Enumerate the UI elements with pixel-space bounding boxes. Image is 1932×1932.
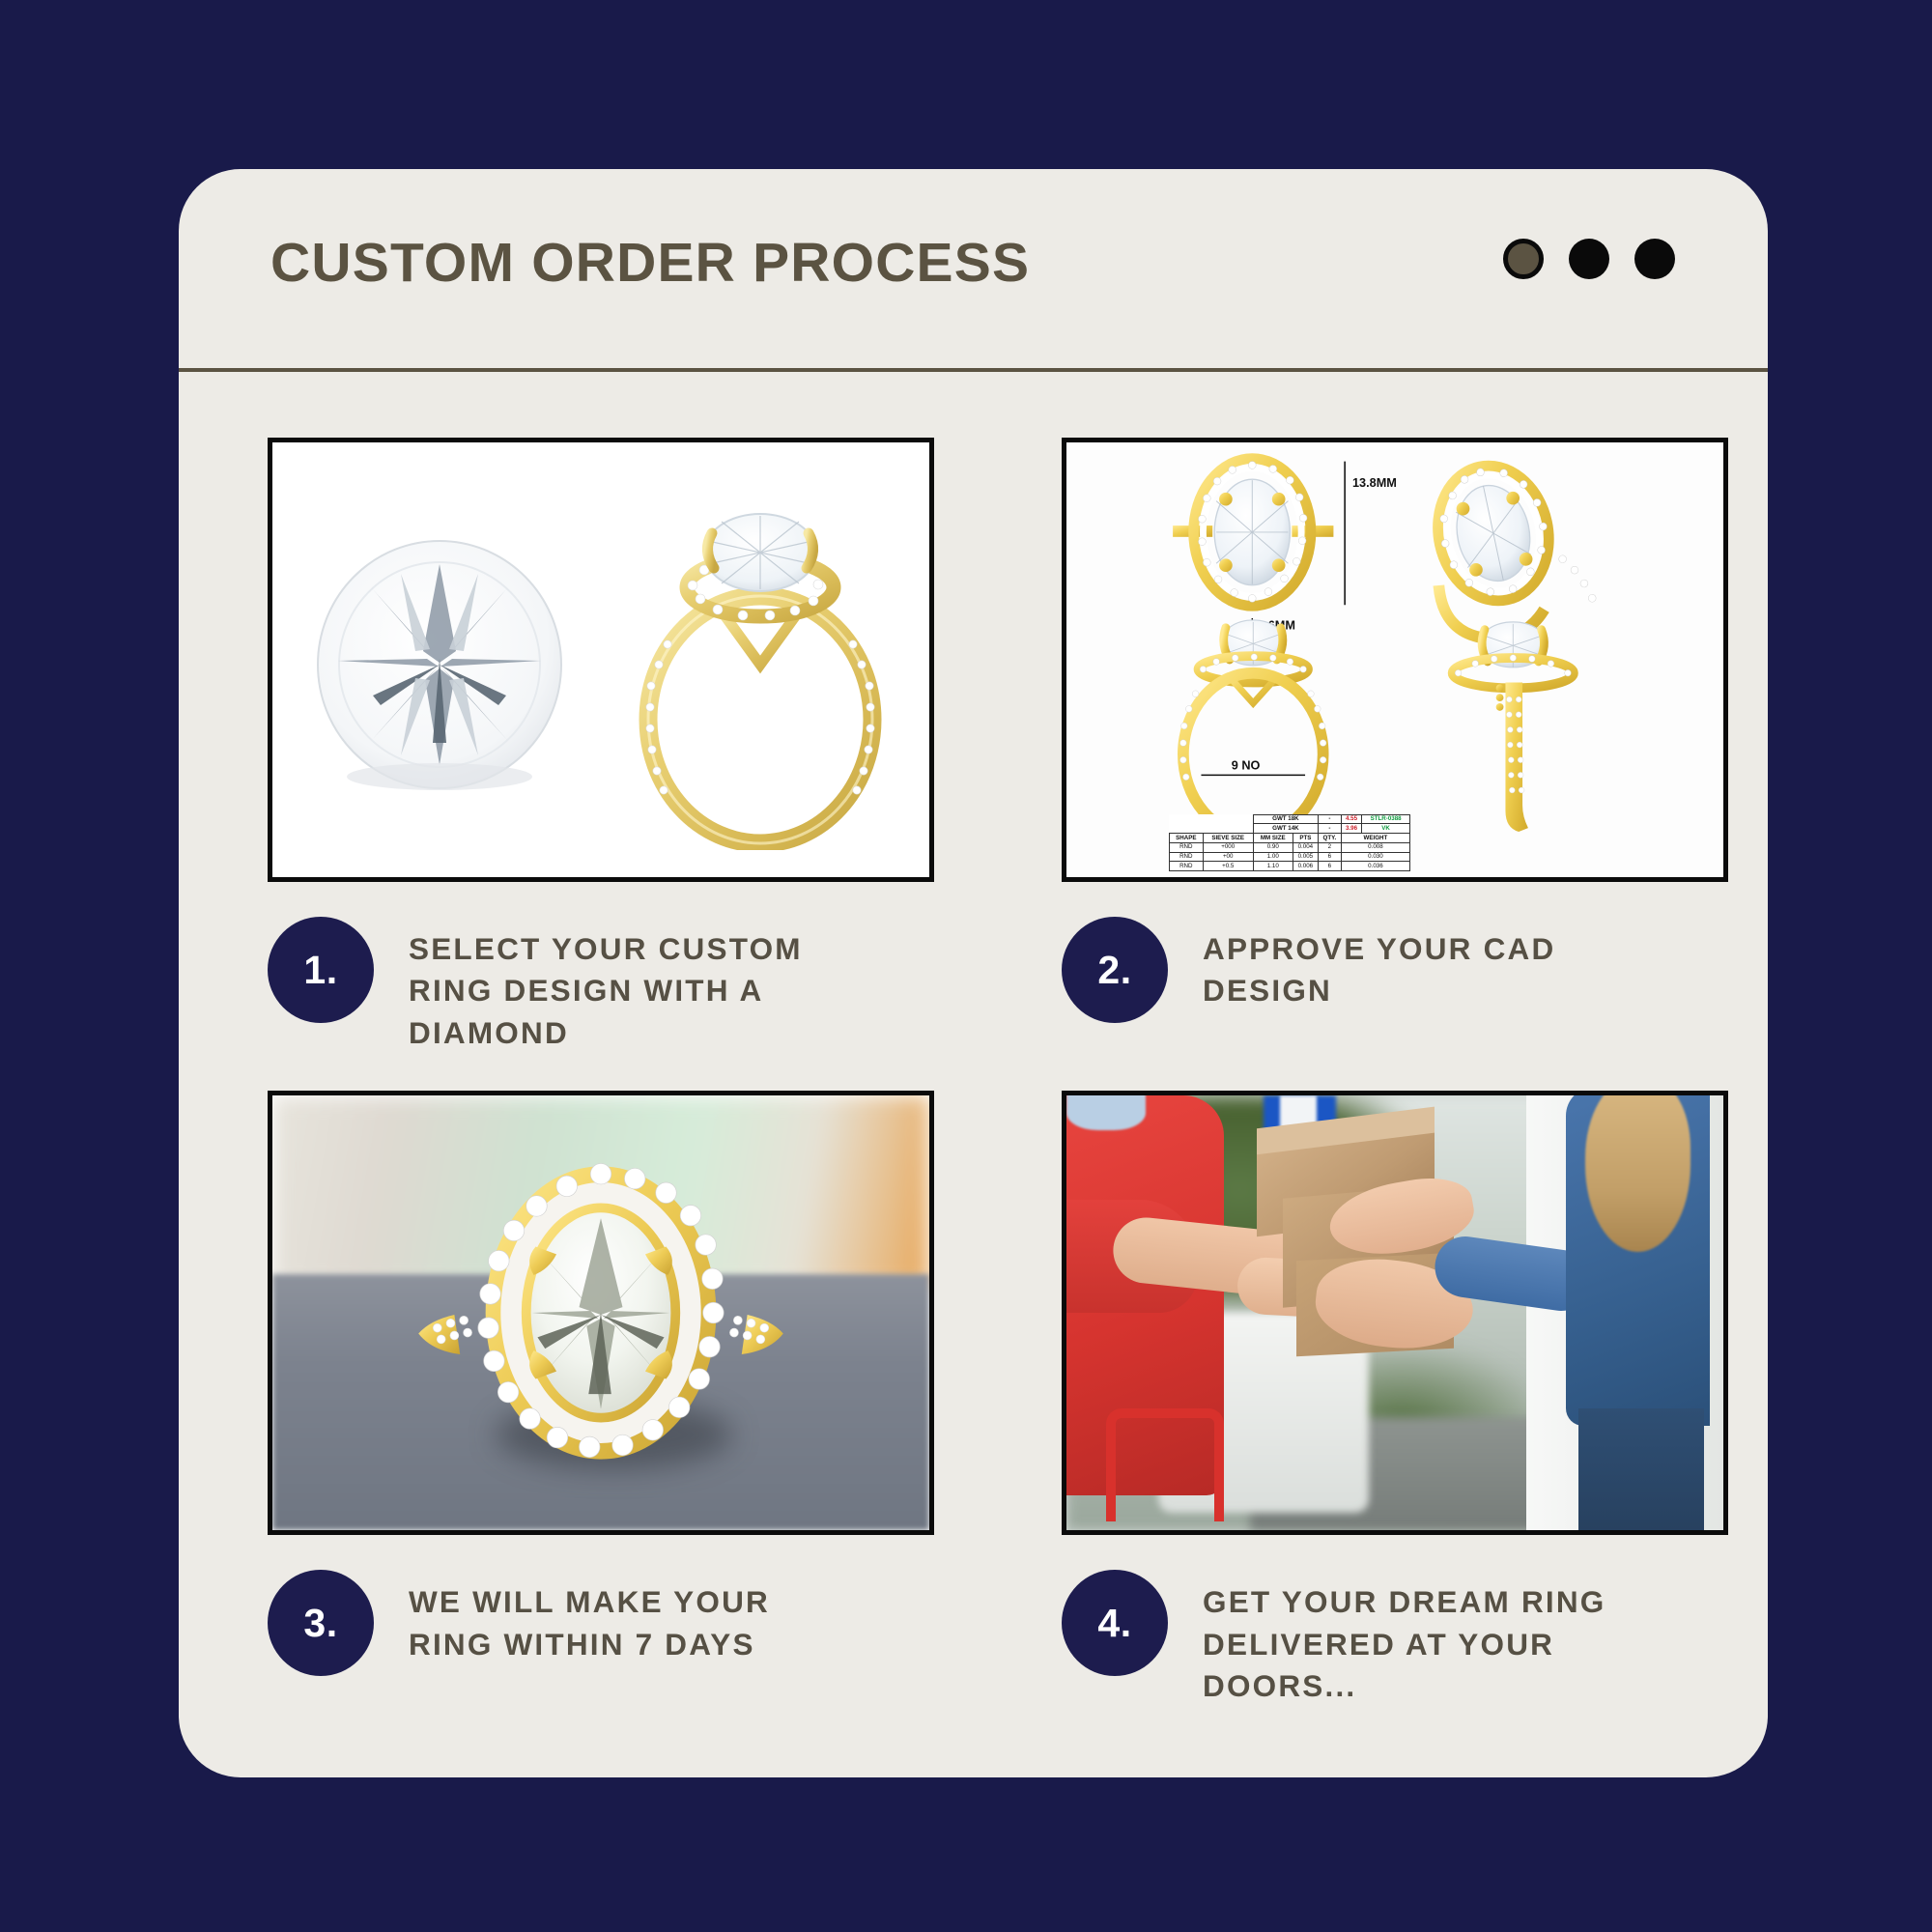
- step-2-caption: 2. APPROVE YOUR CAD DESIGN: [1062, 917, 1678, 1023]
- card-header: CUSTOM ORDER PROCESS: [179, 169, 1768, 368]
- step-3-thumbnail[interactable]: [268, 1091, 934, 1535]
- step-1-label: SELECT YOUR CUSTOM RING DESIGN WITH A DI…: [409, 917, 884, 1054]
- cad-table-header-row: SHAPE SIEVE SIZE MM SIZE PTS QTY. WEIGHT: [1170, 834, 1410, 843]
- cad-cell-weight: 0.008: [1341, 842, 1409, 852]
- finished-ring-photo: [272, 1095, 929, 1530]
- step-4[interactable]: 4. GET YOUR DREAM RING DELIVERED AT YOUR…: [973, 1054, 1767, 1707]
- step-4-thumbnail[interactable]: [1062, 1091, 1728, 1535]
- cad-gwt18k-value: 4.55: [1341, 814, 1361, 824]
- cad-dim-height-text: 13.8MM: [1352, 475, 1397, 490]
- step-1[interactable]: 1. SELECT YOUR CUSTOM RING DESIGN WITH A…: [179, 401, 973, 1054]
- step-4-badge: 4.: [1062, 1570, 1168, 1676]
- cad-cell-qty: 6: [1318, 852, 1341, 862]
- page-title: CUSTOM ORDER PROCESS: [270, 231, 1030, 295]
- steps-row-1: 1. SELECT YOUR CUSTOM RING DESIGN WITH A…: [179, 401, 1768, 1054]
- cad-th-qty: QTY.: [1318, 834, 1341, 843]
- cad-cell-sieve: +0.5: [1203, 862, 1253, 871]
- window-dot-three-icon[interactable]: [1634, 239, 1675, 279]
- cad-spec-table: GWT 18K - 4.55 STLR-0388 GWT 14K: [1169, 814, 1410, 872]
- step-2[interactable]: 13.8MM: [973, 401, 1767, 1054]
- cad-th-shape: SHAPE: [1170, 834, 1204, 843]
- cad-cell-mm: 1.10: [1253, 862, 1293, 871]
- step-1-badge: 1.: [268, 917, 374, 1023]
- cad-blank-cell: [1170, 814, 1204, 824]
- window-controls[interactable]: [1503, 239, 1675, 279]
- courier-face-mask: [1066, 1095, 1146, 1130]
- cad-cell-shape: RND: [1170, 852, 1204, 862]
- cad-th-sieve-size: SIEVE SIZE: [1203, 834, 1253, 843]
- cad-cell-weight: 0.036: [1341, 862, 1409, 871]
- cad-table-row: RND +00 1.00 0.005 6 0.030: [1170, 852, 1410, 862]
- cad-table-row: RND +000 0.90 0.004 2 0.008: [1170, 842, 1410, 852]
- cad-th-mm-size: MM SIZE: [1253, 834, 1293, 843]
- diamond-and-ring-illustration: [272, 442, 929, 877]
- loose-diamond-icon: [309, 535, 570, 794]
- step-3[interactable]: 3. WE WILL MAKE YOUR RING WITHIN 7 DAYS: [179, 1054, 973, 1707]
- step-3-badge: 3.: [268, 1570, 374, 1676]
- step-2-badge: 2.: [1062, 917, 1168, 1023]
- cad-table-gwt14k-row: GWT 14K - 3.96 VK: [1170, 824, 1410, 834]
- step-3-caption: 3. WE WILL MAKE YOUR RING WITHIN 7 DAYS: [268, 1570, 884, 1676]
- cad-th-weight: WEIGHT: [1341, 834, 1409, 843]
- red-hand-trolley: [1106, 1408, 1224, 1521]
- header-divider: [179, 368, 1768, 372]
- step-3-label: WE WILL MAKE YOUR RING WITHIN 7 DAYS: [409, 1570, 863, 1665]
- cad-dash-1: -: [1318, 814, 1341, 824]
- step-4-caption: 4. GET YOUR DREAM RING DELIVERED AT YOUR…: [1062, 1570, 1678, 1707]
- delivery-photo: [1066, 1095, 1723, 1530]
- cad-cell-qty: 2: [1318, 842, 1341, 852]
- cad-gwt18k-label: GWT 18K: [1253, 814, 1318, 824]
- cad-cell-shape: RND: [1170, 862, 1204, 871]
- cad-style-code: STLR-0388: [1362, 814, 1410, 824]
- cad-cell-mm: 1.00: [1253, 852, 1293, 862]
- cad-cell-sieve: +00: [1203, 852, 1253, 862]
- steps-row-2: 3. WE WILL MAKE YOUR RING WITHIN 7 DAYS: [179, 1054, 1768, 1707]
- cad-cell-qty: 6: [1318, 862, 1341, 871]
- cad-cell-pts: 0.005: [1293, 852, 1318, 862]
- cad-blank-cell: [1170, 824, 1204, 834]
- cad-table-row: RND +0.5 1.10 0.006 6 0.036: [1170, 862, 1410, 871]
- cad-cell-pts: 0.004: [1293, 842, 1318, 852]
- cad-cell-mm: 0.90: [1253, 842, 1293, 852]
- window-dot-accent-icon[interactable]: [1503, 239, 1544, 279]
- cad-blank-cell: [1203, 814, 1253, 824]
- cad-th-pts: PTS: [1293, 834, 1318, 843]
- cad-ring-size-text: 9 NO: [1232, 757, 1261, 772]
- cad-dash-2: -: [1318, 824, 1341, 834]
- cad-table-gwt18k-row: GWT 18K - 4.55 STLR-0388: [1170, 814, 1410, 824]
- cad-gwt14k-label: GWT 14K: [1253, 824, 1318, 834]
- steps-grid: 1. SELECT YOUR CUSTOM RING DESIGN WITH A…: [179, 401, 1768, 1708]
- poster-root: CUSTOM ORDER PROCESS: [0, 0, 1932, 1932]
- step-1-thumbnail[interactable]: [268, 438, 934, 882]
- cad-cell-shape: RND: [1170, 842, 1204, 852]
- cad-views-icon: 13.8MM: [1066, 442, 1723, 877]
- step-4-label: GET YOUR DREAM RING DELIVERED AT YOUR DO…: [1203, 1570, 1678, 1707]
- cad-maker-code: VK: [1362, 824, 1410, 834]
- cad-cell-weight: 0.030: [1341, 852, 1409, 862]
- window-card: CUSTOM ORDER PROCESS: [179, 169, 1768, 1777]
- cad-drawing: 13.8MM: [1066, 442, 1723, 877]
- cad-blank-cell: [1203, 824, 1253, 834]
- cad-cell-pts: 0.006: [1293, 862, 1318, 871]
- customer-jeans: [1578, 1408, 1703, 1530]
- step-2-thumbnail[interactable]: 13.8MM: [1062, 438, 1728, 882]
- step-2-label: APPROVE YOUR CAD DESIGN: [1203, 917, 1678, 1012]
- cad-gwt14k-value: 3.96: [1341, 824, 1361, 834]
- ring-photo-overlay-icon: [272, 1095, 929, 1530]
- window-dot-two-icon[interactable]: [1569, 239, 1609, 279]
- gold-halo-ring-profile-icon: [615, 493, 905, 850]
- cad-cell-sieve: +000: [1203, 842, 1253, 852]
- step-1-caption: 1. SELECT YOUR CUSTOM RING DESIGN WITH A…: [268, 917, 884, 1054]
